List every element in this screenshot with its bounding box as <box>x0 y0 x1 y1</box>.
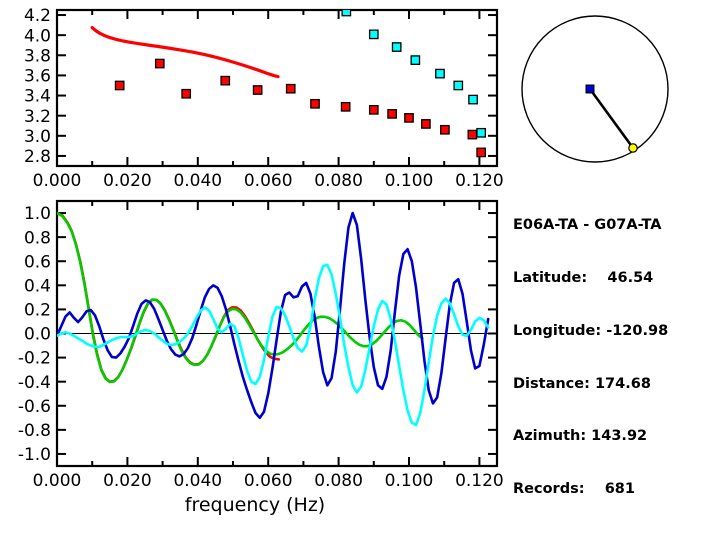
station-pair-title: E06A-TA - G07A-TA <box>513 217 702 235</box>
x-tick-label: 0.080 <box>314 171 363 191</box>
x-tick-label: 0.060 <box>244 471 293 491</box>
y-tick-label: 3.4 <box>24 87 51 107</box>
azimuth-row: Azimuth: 143.92 <box>513 428 702 446</box>
y-tick-label: 4.0 <box>24 26 51 46</box>
series-red-narrowband <box>57 213 279 382</box>
spectra-x-tick-labels: 0.0000.0200.0400.0600.0800.1000.120 <box>33 471 504 491</box>
station-metadata-text: E06A-TA - G07A-TA Latitude: 46.54 Longit… <box>513 182 702 534</box>
y-tick-label: -0.4 <box>18 373 51 393</box>
spectra-plot-svg: -1.0-0.8-0.6-0.4-0.20.00.20.40.60.81.0 0… <box>0 190 510 519</box>
y-tick-label: 0.2 <box>24 301 51 321</box>
dispersion-plot-panel: 2.83.03.23.43.63.84.04.2 0.0000.0200.040… <box>0 0 510 195</box>
azimuth-circle-outline <box>522 16 668 162</box>
y-tick-label: -1.0 <box>18 445 51 465</box>
y-tick-label: 0.0 <box>24 325 51 345</box>
y-tick-label: 3.6 <box>24 67 51 87</box>
x-tick-label: 0.060 <box>244 171 293 191</box>
dispersion-y-tick-labels: 2.83.03.23.43.63.84.04.2 <box>24 6 51 167</box>
center-station-marker <box>586 85 594 93</box>
y-tick-label: -0.2 <box>18 349 51 369</box>
y-tick-label: 0.6 <box>24 252 51 272</box>
dispersion-x-tick-labels: 0.0000.0200.0400.0600.0800.1000.120 <box>33 171 504 191</box>
y-tick-label: 3.0 <box>24 127 51 147</box>
spectra-x-axis-label: frequency (Hz) <box>185 494 325 516</box>
dispersion-series-group <box>92 7 485 156</box>
series-group-velocity-red <box>115 59 485 156</box>
y-tick-label: 2.8 <box>24 147 51 167</box>
y-tick-label: 4.2 <box>24 6 51 26</box>
y-tick-label: -0.8 <box>18 421 51 441</box>
longitude-row: Longitude: -120.98 <box>513 323 702 341</box>
y-tick-label: 3.8 <box>24 46 51 66</box>
x-tick-label: 0.120 <box>455 171 504 191</box>
dispersion-plot-svg: 2.83.03.23.43.63.84.04.2 0.0000.0200.040… <box>0 0 510 195</box>
paired-station-marker <box>629 144 637 152</box>
spectra-plot-panel: -1.0-0.8-0.6-0.4-0.20.00.20.40.60.81.0 0… <box>0 190 510 519</box>
x-tick-label: 0.080 <box>314 471 363 491</box>
spectra-series-group <box>57 213 488 425</box>
x-tick-label: 0.020 <box>103 171 152 191</box>
x-tick-label: 0.040 <box>173 171 222 191</box>
x-tick-label: 0.000 <box>33 471 82 491</box>
azimuth-circle-svg <box>505 0 702 185</box>
x-tick-label: 0.020 <box>103 471 152 491</box>
station-info-panel: E06A-TA - G07A-TA Latitude: 46.54 Longit… <box>505 0 702 300</box>
x-tick-label: 0.000 <box>33 171 82 191</box>
y-tick-label: 1.0 <box>24 204 51 224</box>
latitude-row: Latitude: 46.54 <box>513 270 702 288</box>
x-tick-label: 0.100 <box>385 471 434 491</box>
y-tick-label: 0.8 <box>24 228 51 248</box>
series-reference-curve <box>92 28 278 77</box>
y-tick-label: 3.2 <box>24 107 51 127</box>
y-tick-label: -0.6 <box>18 397 51 417</box>
distance-row: Distance: 174.68 <box>513 376 702 394</box>
x-tick-label: 0.100 <box>385 171 434 191</box>
spectra-y-tick-labels: -1.0-0.8-0.6-0.4-0.20.00.20.40.60.81.0 <box>18 204 51 465</box>
figure-root: 2.83.03.23.43.63.84.04.2 0.0000.0200.040… <box>0 0 702 519</box>
x-tick-label: 0.040 <box>173 471 222 491</box>
azimuth-ray-line <box>590 89 633 148</box>
x-tick-label: 0.120 <box>455 471 504 491</box>
records-row: Records: 681 <box>513 481 702 499</box>
y-tick-label: 0.4 <box>24 276 51 296</box>
